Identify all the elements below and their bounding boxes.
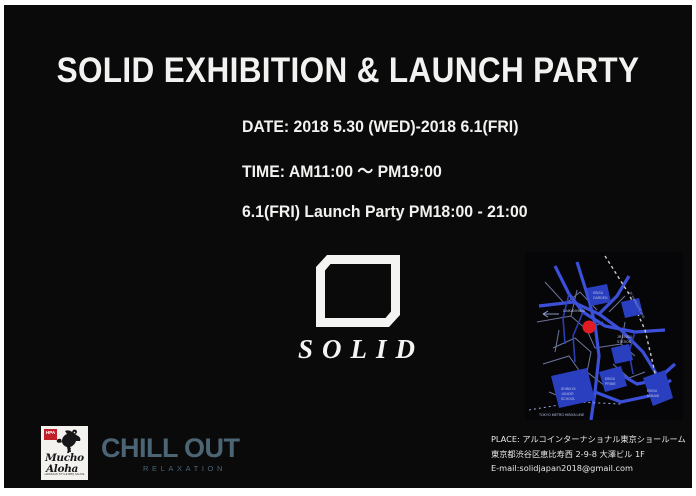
event-time-line: TIME: AM11:00 ～ PM19:00 xyxy=(242,157,528,182)
svg-text:SCHOOL: SCHOOL xyxy=(561,397,575,401)
svg-text:JUNIOR: JUNIOR xyxy=(561,392,574,396)
venue-address-block: PLACE: アルコインターナショナル東京ショールーム 東京都渋谷区恵比寿西 2… xyxy=(491,432,686,476)
svg-text:JR EBISU: JR EBISU xyxy=(617,335,633,339)
solid-wordmark: SOLID xyxy=(284,334,429,365)
svg-text:EBISU: EBISU xyxy=(605,377,616,381)
solid-square-frame-logo xyxy=(316,255,400,327)
svg-text:EBISU: EBISU xyxy=(647,389,658,393)
chill-out-tagline: RELAXATION xyxy=(101,464,226,473)
venue-location-marker xyxy=(583,321,596,334)
address-place-line: PLACE: アルコインターナショナル東京ショールーム xyxy=(491,432,686,447)
mucho-aloha-script: Mucho Aloha xyxy=(41,454,88,474)
event-date-line: DATE: 2018 5.30 (WED)-2018 6.1(FRI) xyxy=(242,117,528,137)
poster-canvas: SOLID EXHIBITION & LAUNCH PARTY DATE: 20… xyxy=(4,5,692,488)
svg-text:MINAMI: MINAMI xyxy=(647,394,659,398)
svg-text:DAIKANYAMA: DAIKANYAMA xyxy=(563,309,586,313)
svg-text:TOKYO METRO HIBIYA LINE: TOKYO METRO HIBIYA LINE xyxy=(539,413,585,417)
svg-text:GARDEN: GARDEN xyxy=(593,296,608,300)
venue-map-svg: EBISU GARDEN JR EBISU STATION DAIKANYAMA… xyxy=(525,252,683,420)
solid-logo-svg xyxy=(316,255,400,327)
svg-text:EBISU: EBISU xyxy=(593,291,604,295)
address-email-line[interactable]: E-mail:solidjapan2018@gmail.com xyxy=(491,461,686,476)
svg-text:STATION: STATION xyxy=(617,340,632,344)
mucho-aloha-fine-print: HAWAIIAN STYLE BBQ SAUCE xyxy=(41,473,88,476)
chill-out-word1: CHILL xyxy=(101,433,178,463)
svg-text:SHIBUYA: SHIBUYA xyxy=(561,387,576,391)
svg-text:PRIME: PRIME xyxy=(605,382,616,386)
launch-party-line: 6.1(FRI) Launch Party PM18:00 - 21:00 xyxy=(242,202,528,222)
page-title: SOLID EXHIBITION & LAUNCH PARTY xyxy=(38,51,657,91)
event-info-block: DATE: 2018 5.30 (WED)-2018 6.1(FRI) TIME… xyxy=(242,117,549,222)
mucho-aloha-logo: HPA Mucho Aloha HAWAIIAN STYLE BBQ SAUCE xyxy=(41,426,88,480)
chill-out-logo: CHILLOUT RELAXATION xyxy=(101,434,239,473)
venue-map: EBISU GARDEN JR EBISU STATION DAIKANYAMA… xyxy=(525,252,683,420)
chill-out-wordmark: CHILLOUT xyxy=(101,434,239,462)
chill-out-word2: OUT xyxy=(184,433,240,463)
address-street-line: 東京都渋谷区恵比寿西 2-9-8 大澤ビル 1F xyxy=(491,447,686,462)
